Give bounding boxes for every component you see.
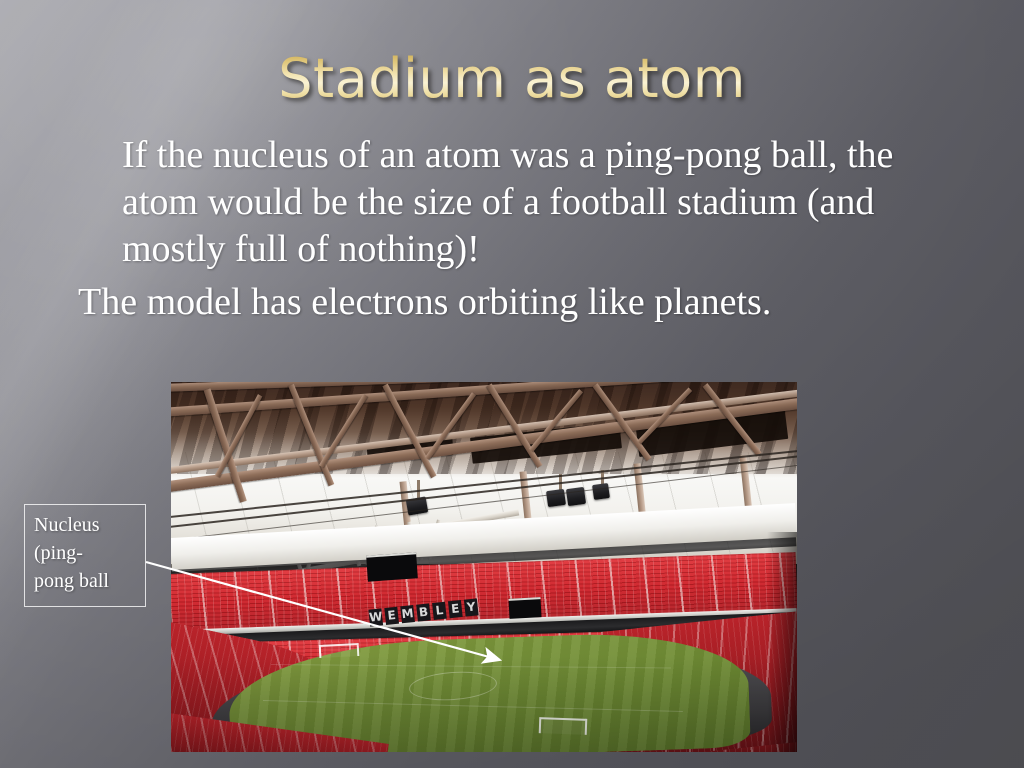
body-paragraph-1: If the nucleus of an atom was a ping-pon… [0,132,1024,273]
presentation-slide: Stadium as atom If the nucleus of an ato… [0,0,1024,768]
slide-body-text: If the nucleus of an atom was a ping-pon… [0,132,1024,326]
callout-label: Nucleus (ping- pong ball [34,511,224,595]
photo-tone-overlay [171,382,797,752]
stadium-photo: W E M B L E Y [171,382,797,752]
body-paragraph-2: The model has electrons orbiting like pl… [0,273,1024,326]
page-title: Stadium as atom [0,47,1024,111]
